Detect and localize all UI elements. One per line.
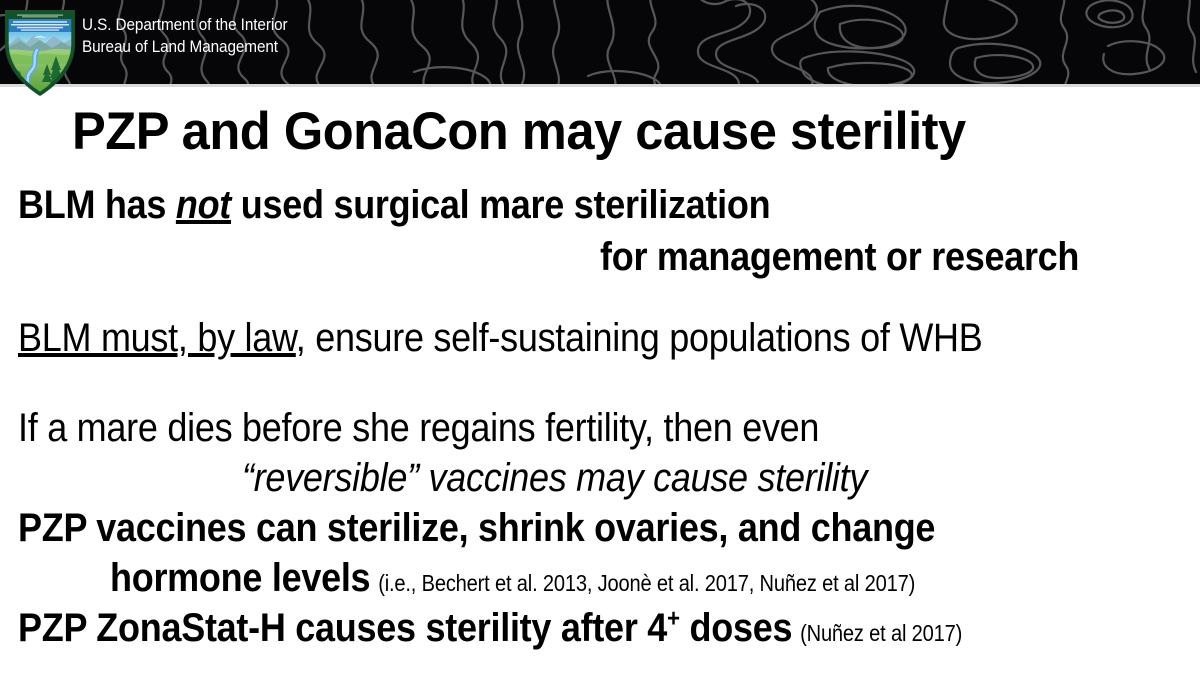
text-used-surgical: used surgical mare sterilization: [231, 183, 770, 227]
citation-zonastat: (Nuñez et al 2017): [800, 620, 962, 647]
agency-line-bureau: Bureau of Land Management: [82, 36, 288, 58]
text-hormone-levels: hormone levels: [110, 556, 370, 600]
blm-seal-logo: [4, 8, 76, 96]
text-blm-has: BLM has: [18, 183, 176, 227]
header-band: U.S. Department of the Interior Bureau o…: [0, 0, 1200, 84]
statement-for-management-or-research: for management or research: [600, 235, 1079, 280]
statement-reversible-vaccines: “reversible” vaccines may cause sterilit…: [242, 456, 867, 501]
text-zonastat-prefix: PZP ZonaStat-H causes sterility after 4: [18, 606, 667, 650]
slide-content-area: PZP and GonaCon may cause sterility BLM …: [0, 87, 1200, 675]
citation-hormone-levels: (i.e., Bechert et al. 2013, Joonè et al.…: [378, 570, 915, 597]
emphasis-not: not: [176, 183, 231, 227]
agency-title-block: U.S. Department of the Interior Bureau o…: [82, 14, 310, 58]
superscript-plus: +: [667, 606, 680, 633]
statement-pzp-vaccines-sterilize: PZP vaccines can sterilize, shrink ovari…: [18, 506, 935, 551]
text-zonastat-doses: doses: [680, 606, 792, 650]
statement-blm-no-surgical-sterilization: BLM has not used surgical mare steriliza…: [18, 183, 770, 228]
statement-if-mare-dies: If a mare dies before she regains fertil…: [18, 406, 819, 451]
text-ensure-populations: , ensure self-sustaining populations of …: [296, 316, 983, 360]
statement-zonastat-h-sterility: PZP ZonaStat-H causes sterility after 4+…: [18, 606, 967, 651]
agency-line-department: U.S. Department of the Interior: [82, 14, 288, 36]
statement-blm-must-by-law: BLM must, by law, ensure self-sustaining…: [18, 316, 983, 361]
statement-hormone-levels: hormone levels(i.e., Bechert et al. 2013…: [110, 556, 932, 601]
emphasis-blm-must-by-law: BLM must, by law: [18, 316, 296, 360]
slide-title: PZP and GonaCon may cause sterility: [72, 101, 966, 162]
